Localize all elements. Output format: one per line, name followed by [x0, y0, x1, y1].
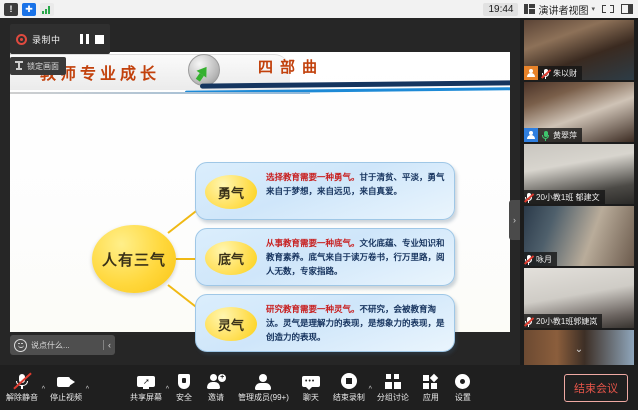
- speaker-view-icon: [524, 4, 535, 14]
- camera-icon: [56, 373, 76, 390]
- mic-muted-icon: [12, 373, 32, 390]
- toolbar-label-chat: 聊天: [303, 392, 319, 403]
- mic-active-icon: [541, 130, 550, 141]
- mic-muted-icon: [524, 316, 533, 327]
- toolbar-item-chat[interactable]: ••• 聊天: [295, 365, 327, 410]
- branch-badge-3: 灵气: [205, 307, 257, 341]
- chat-collapse-icon[interactable]: ‹: [103, 340, 111, 350]
- branch-text-1: 选择教育需要一种勇气。甘于清贫、平淡，勇气来自于梦想，来自远见，来自真爱。: [266, 171, 446, 199]
- participant-nameplate: 20小教1班 郁建文: [524, 190, 605, 204]
- breakout-rooms-icon: [383, 373, 403, 390]
- view-mode-label: 演讲者视图: [538, 2, 588, 17]
- branch-badge-1: 勇气: [205, 175, 257, 209]
- panel-collapse-button[interactable]: ›: [509, 200, 520, 240]
- meeting-toolbar: 解除静音 ^ 停止视频 ^ ➚ 共享屏幕 ^ 安全 +: [0, 365, 638, 410]
- toolbar-label-share-screen: 共享屏幕: [130, 392, 162, 403]
- participant-filmstrip[interactable]: 朱以财 黄翠萍 20小教1班 郁建文: [520, 18, 638, 365]
- header-band-grey: [10, 92, 310, 94]
- toolbar-label-invite: 邀请: [208, 392, 224, 403]
- toolbar-item-breakout-rooms[interactable]: 分组讨论: [371, 365, 415, 410]
- mic-muted-icon: [541, 68, 550, 79]
- lock-screen-button[interactable]: 锁定画面: [10, 57, 66, 75]
- info-icon[interactable]: !: [4, 3, 18, 16]
- participant-nameplate: 黄翠萍: [524, 128, 582, 142]
- quick-chat-bar[interactable]: 说点什么... ‹: [10, 335, 115, 355]
- stop-recording-icon: [339, 373, 359, 390]
- mic-muted-icon: [524, 254, 533, 265]
- toolbar-item-security[interactable]: 安全: [168, 365, 200, 410]
- participant-nameplate: 朱以财: [524, 66, 582, 80]
- toolbar-label-stop-video: 停止视频: [50, 392, 82, 403]
- shield-icon[interactable]: ✚: [22, 3, 36, 16]
- participant-tile[interactable]: 20小教1班郭婕岚: [524, 268, 634, 328]
- avatar: [524, 66, 538, 80]
- share-screen-icon: ➚: [136, 373, 156, 390]
- participant-tile[interactable]: 黄翠萍: [524, 82, 634, 142]
- fullscreen-icon[interactable]: [601, 3, 615, 15]
- branch-text-3: 研究教育需要一种灵气。不研究，会被教育淘汰。灵气是理解力的表现，是想象力的表现，…: [266, 303, 446, 345]
- mindmap-center-label: 人有三气: [102, 249, 166, 270]
- toolbar-label-stop-recording: 结束录制: [333, 392, 365, 403]
- avatar: [524, 128, 538, 142]
- security-shield-icon: [174, 373, 194, 390]
- branch-text-2: 从事教育需要一种底气。文化底蕴、专业知识和教育素养。底气来自于读万卷书，行万里路…: [266, 237, 446, 279]
- chevron-up-icon[interactable]: ^: [86, 386, 89, 393]
- toolbar-item-stop-video[interactable]: 停止视频 ^: [44, 365, 88, 410]
- toolbar-label-unmute: 解除静音: [6, 392, 38, 403]
- toolbar-label-settings: 设置: [455, 392, 471, 403]
- recording-indicator-icon: [16, 34, 27, 45]
- green-arrow-badge: [188, 54, 220, 86]
- pause-icon[interactable]: [80, 34, 89, 44]
- participant-name: 20小教1班郭婕岚: [536, 316, 597, 327]
- meeting-window: ! ✚ 19:44 演讲者视图 ▾ 录制中: [0, 0, 638, 410]
- recording-status-label: 录制中: [32, 33, 61, 46]
- arrow-up-icon: [197, 63, 212, 77]
- chat-icon: •••: [301, 373, 321, 390]
- toolbar-label-apps: 应用: [423, 392, 439, 403]
- participant-tile[interactable]: ⌄: [524, 330, 634, 365]
- system-tray-icons: ! ✚: [0, 3, 54, 16]
- mindmap-branch-1: 勇气 选择教育需要一种勇气。甘于清贫、平淡，勇气来自于梦想，来自远见，来自真爱。: [195, 162, 455, 220]
- system-bar-right: 19:44 演讲者视图 ▾: [483, 2, 638, 17]
- toolbar-label-participants: 管理成员(99+): [238, 392, 289, 403]
- mindmap-branch-3: 灵气 研究教育需要一种灵气。不研究，会被教育淘汰。灵气是理解力的表现，是想象力的…: [195, 294, 455, 352]
- toolbar-label-breakout-rooms: 分组讨论: [377, 392, 409, 403]
- shared-screen-stage: 录制中 锁定画面 教师专业成长 四部曲: [0, 18, 520, 365]
- end-meeting-button[interactable]: 结束会议: [564, 374, 628, 402]
- filmstrip-scroll-caret[interactable]: ⌄: [575, 344, 583, 355]
- signal-icon[interactable]: [40, 3, 54, 16]
- toolbar-item-apps[interactable]: 应用: [415, 365, 447, 410]
- settings-gear-icon: [453, 373, 473, 390]
- mic-muted-icon: [524, 192, 533, 203]
- view-mode-switch[interactable]: 演讲者视图 ▾: [524, 2, 595, 17]
- toolbar-item-participants[interactable]: 管理成员(99+): [232, 365, 295, 410]
- lock-screen-label: 锁定画面: [27, 61, 59, 72]
- participant-tile[interactable]: 20小教1班 郁建文: [524, 144, 634, 204]
- chevron-down-icon: ▾: [591, 5, 595, 13]
- toolbar-item-settings[interactable]: 设置: [447, 365, 479, 410]
- system-top-bar: ! ✚ 19:44 演讲者视图 ▾: [0, 0, 638, 18]
- participant-tile[interactable]: 朱以财: [524, 20, 634, 80]
- invite-user-icon: +: [206, 373, 226, 390]
- toolbar-item-stop-recording[interactable]: 结束录制 ^: [327, 365, 371, 410]
- apps-icon: [421, 373, 441, 390]
- participant-nameplate: 20小教1班郭婕岚: [524, 314, 602, 328]
- branch-highlight-1: 选择教育需要一种勇气。: [266, 173, 360, 183]
- participant-tile[interactable]: 咏月: [524, 206, 634, 266]
- participant-name: 朱以财: [553, 68, 577, 79]
- participant-name: 20小教1班 郁建文: [536, 192, 600, 203]
- mindmap-branch-2: 底气 从事教育需要一种底气。文化底蕴、专业知识和教育素养。底气来自于读万卷书，行…: [195, 228, 455, 286]
- slide-subtitle: 四部曲: [258, 56, 324, 77]
- branch-badge-label-3: 灵气: [218, 315, 244, 334]
- branch-highlight-2: 从事教育需要一种底气。: [266, 239, 360, 249]
- chevron-right-icon: ›: [513, 215, 516, 225]
- split-view-icon[interactable]: [621, 4, 633, 14]
- clock: 19:44: [483, 3, 518, 16]
- toolbar-label-security: 安全: [176, 392, 192, 403]
- participant-name: 黄翠萍: [553, 130, 577, 141]
- recording-bar: 录制中: [10, 24, 110, 54]
- slide-header: 教师专业成长 四部曲: [10, 52, 510, 102]
- toolbar-item-invite[interactable]: + 邀请: [200, 365, 232, 410]
- presentation-slide: 教师专业成长 四部曲 人有三气 勇气 选择教: [10, 52, 510, 332]
- participant-nameplate: 咏月: [524, 252, 557, 266]
- toolbar-item-unmute[interactable]: 解除静音 ^: [0, 365, 44, 410]
- branch-badge-label-2: 底气: [218, 249, 244, 268]
- toolbar-item-share-screen[interactable]: ➚ 共享屏幕 ^: [124, 365, 168, 410]
- stop-icon[interactable]: [95, 35, 104, 44]
- branch-badge-label-1: 勇气: [218, 183, 244, 202]
- mindmap-center-node: 人有三气: [92, 225, 176, 293]
- participants-icon: [253, 373, 273, 390]
- participant-name: 咏月: [536, 254, 552, 265]
- branch-highlight-3: 研究教育需要一种灵气。: [266, 305, 360, 315]
- chat-input[interactable]: 说点什么...: [31, 340, 99, 351]
- branch-badge-2: 底气: [205, 241, 257, 275]
- emoji-icon[interactable]: [14, 339, 27, 352]
- pin-icon: [15, 61, 23, 72]
